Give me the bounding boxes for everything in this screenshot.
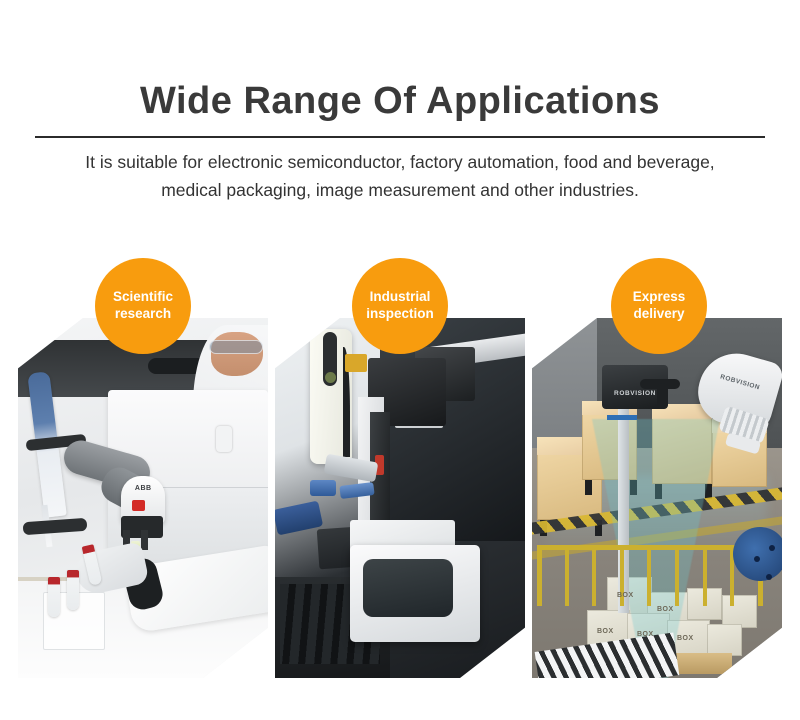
header: Wide Range Of Applications (0, 0, 800, 124)
badge-express-delivery[interactable]: Express delivery (611, 258, 707, 354)
badge-scientific-research[interactable]: Scientific research (95, 258, 191, 354)
scene-warehouse-delivery: ROBVISION ROBVISION (532, 318, 782, 678)
box-label-5: BOX (677, 635, 694, 642)
title-divider (35, 136, 765, 138)
application-panel-industrial-inspection[interactable] (275, 318, 525, 678)
hexagon-image-frame (275, 318, 525, 678)
page-title: Wide Range Of Applications (0, 80, 800, 124)
box-label-2: BOX (657, 606, 674, 613)
hexagon-image-frame: ROBVISION ROBVISION (532, 318, 782, 678)
badge-line-1: Express (633, 289, 686, 306)
badge-industrial-inspection[interactable]: Industrial inspection (352, 258, 448, 354)
badge-line-2: inspection (366, 306, 434, 323)
application-panels: ABB (0, 250, 800, 680)
badge-line-1: Scientific (113, 289, 173, 306)
application-banner: Wide Range Of Applications It is suitabl… (0, 0, 800, 720)
box-label-3: BOX (597, 628, 614, 635)
scene-laboratory: ABB (18, 318, 268, 678)
subtitle-text: It is suitable for electronic semiconduc… (55, 148, 745, 204)
box-label-4: BOX (637, 631, 654, 638)
badge-line-1: Industrial (366, 289, 434, 306)
robvision-logo-camera: ROBVISION (602, 390, 668, 397)
application-panel-express-delivery[interactable]: ROBVISION ROBVISION (532, 318, 782, 678)
scene-industrial-inspection (275, 318, 525, 678)
application-panel-scientific-research[interactable]: ABB (18, 318, 268, 678)
abb-logo-text: ABB (124, 485, 162, 492)
badge-line-2: delivery (633, 306, 686, 323)
badge-line-2: research (113, 306, 173, 323)
box-label-1: BOX (617, 592, 634, 599)
hexagon-image-frame: ABB (18, 318, 268, 678)
